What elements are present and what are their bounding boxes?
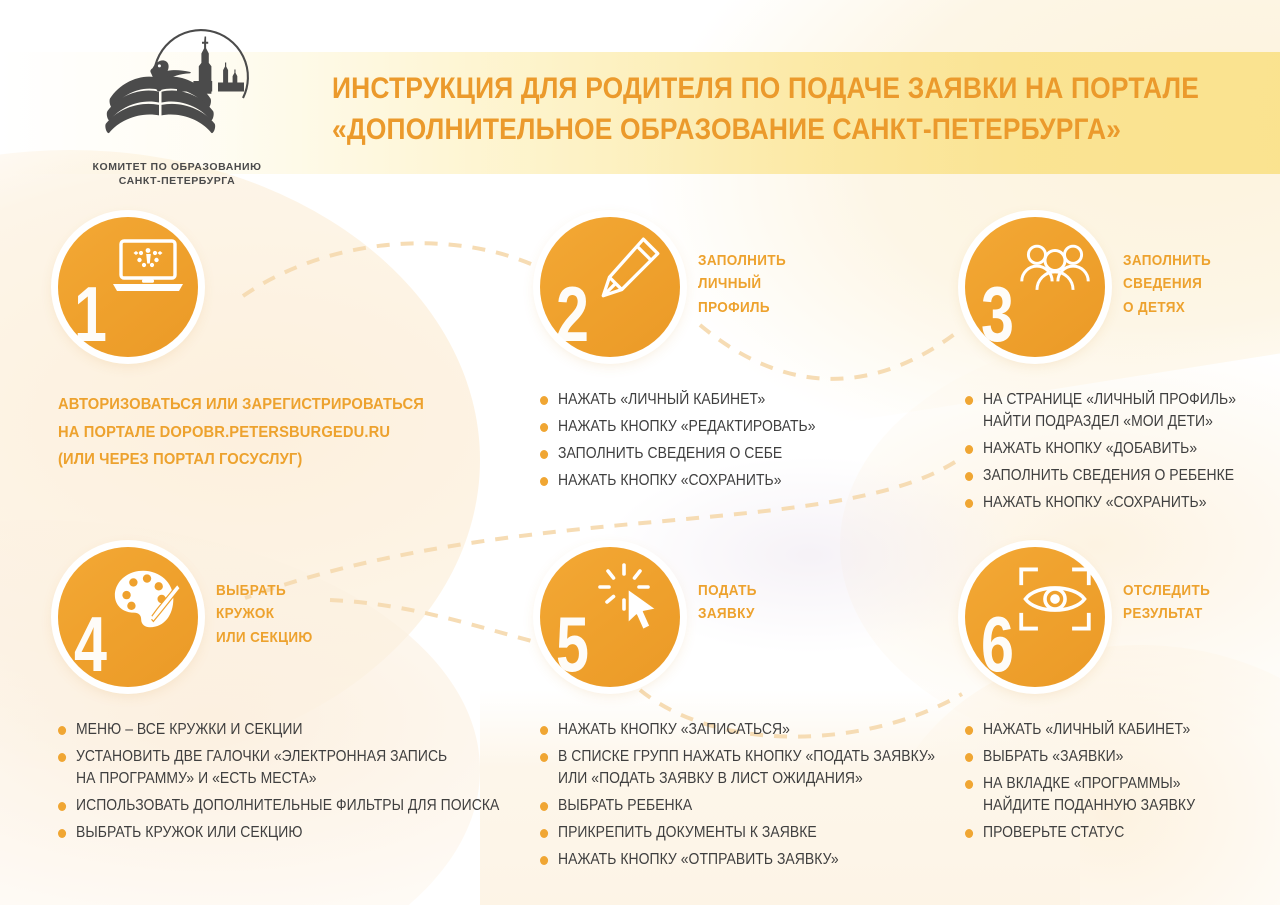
step-2-heading-line2: ЛИЧНЫЙ — [698, 272, 786, 295]
infographic-page: КОМИТЕТ ПО ОБРАЗОВАНИЮ САНКТ-ПЕТЕРБУРГА … — [0, 0, 1280, 905]
list-item: НА ВКЛАДКЕ «ПРОГРАММЫ» НАЙДИТЕ ПОДАННУЮ … — [965, 773, 1253, 817]
step-3: 3 — [965, 205, 1280, 519]
bullet-text-cont: НАЙТИ ПОДРАЗДЕЛ «МОИ ДЕТИ» — [983, 411, 1253, 433]
bullet-text: НАЖАТЬ КНОПКУ «РЕДАКТИРОВАТЬ» — [558, 418, 816, 435]
bullet-text: НАЖАТЬ КНОПКУ «СОХРАНИТЬ» — [558, 472, 782, 489]
step-5-number: 5 — [556, 605, 589, 683]
step-row-top: 1 — [0, 205, 1280, 535]
step-3-bullets: НА СТРАНИЦЕ «ЛИЧНЫЙ ПРОФИЛЬ» НАЙТИ ПОДРА… — [965, 389, 1280, 514]
list-item: МЕНЮ – ВСЕ КРУЖКИ И СЕКЦИИ — [58, 719, 445, 741]
step-2-bullets: НАЖАТЬ «ЛИЧНЫЙ КАБИНЕТ» НАЖАТЬ КНОПКУ «Р… — [540, 389, 960, 492]
bullet-text: ЗАПОЛНИТЬ СВЕДЕНИЯ О РЕБЕНКЕ — [983, 467, 1234, 484]
bullet-text: НАЖАТЬ КНОПКУ «ЗАПИСАТЬСЯ» — [558, 721, 790, 738]
steps-container: 1 — [0, 205, 1280, 865]
step-6-heading-line2: РЕЗУЛЬТАТ — [1123, 602, 1210, 625]
bullet-text: НА ВКЛАДКЕ «ПРОГРАММЫ» — [983, 775, 1181, 792]
step-3-heading-line1: ЗАПОЛНИТЬ — [1123, 249, 1211, 272]
list-item: НАЖАТЬ КНОПКУ «ДОБАВИТЬ» — [965, 438, 1253, 460]
bullet-text: НАЖАТЬ «ЛИЧНЫЙ КАБИНЕТ» — [983, 721, 1190, 738]
list-item: ВЫБРАТЬ «ЗАЯВКИ» — [965, 746, 1253, 768]
step-5: 5 — [540, 535, 960, 876]
step-1-lead: АВТОРИЗОВАТЬСЯ ИЛИ ЗАРЕГИСТРИРОВАТЬСЯ НА… — [58, 391, 454, 474]
list-item: НАЖАТЬ «ЛИЧНЫЙ КАБИНЕТ» — [965, 719, 1253, 741]
list-item: ВЫБРАТЬ КРУЖОК ИЛИ СЕКЦИЮ — [58, 822, 445, 844]
list-item: ПРОВЕРЬТЕ СТАТУС — [965, 822, 1253, 844]
step-3-heading-line3: О ДЕТЯХ — [1123, 296, 1211, 319]
list-item: НАЖАТЬ КНОПКУ «ОТПРАВИТЬ ЗАЯВКУ» — [540, 849, 918, 871]
bullet-text: МЕНЮ – ВСЕ КРУЖКИ И СЕКЦИИ — [76, 721, 303, 738]
step-4-bullets: МЕНЮ – ВСЕ КРУЖКИ И СЕКЦИИ УСТАНОВИТЬ ДВ… — [58, 719, 488, 844]
list-item: НАЖАТЬ КНОПКУ «СОХРАНИТЬ» — [965, 492, 1253, 514]
bullet-text: ВЫБРАТЬ РЕБЕНКА — [558, 797, 692, 814]
click-cursor-icon — [592, 563, 668, 635]
logo-caption-line2: САНКТ-ПЕТЕРБУРГА — [119, 175, 236, 187]
step-row-bottom: 4 — [0, 535, 1280, 865]
bullet-text: УСТАНОВИТЬ ДВЕ ГАЛОЧКИ «ЭЛЕКТРОННАЯ ЗАПИ… — [76, 748, 447, 765]
page-title: ИНСТРУКЦИЯ ДЛЯ РОДИТЕЛЯ ПО ПОДАЧЕ ЗАЯВКИ… — [332, 68, 1106, 151]
bullet-text: НА СТРАНИЦЕ «ЛИЧНЫЙ ПРОФИЛЬ» — [983, 391, 1236, 408]
step-6-bullets: НАЖАТЬ «ЛИЧНЫЙ КАБИНЕТ» ВЫБРАТЬ «ЗАЯВКИ»… — [965, 719, 1280, 844]
step-4-heading-line1: ВЫБРАТЬ — [216, 579, 313, 602]
step-1-head: 1 — [58, 205, 488, 365]
bullet-text: ВЫБРАТЬ «ЗАЯВКИ» — [983, 748, 1123, 765]
pencil-icon — [592, 233, 668, 305]
list-item: УСТАНОВИТЬ ДВЕ ГАЛОЧКИ «ЭЛЕКТРОННАЯ ЗАПИ… — [58, 746, 445, 790]
list-item: НА СТРАНИЦЕ «ЛИЧНЫЙ ПРОФИЛЬ» НАЙТИ ПОДРА… — [965, 389, 1253, 433]
list-item: НАЖАТЬ КНОПКУ «РЕДАКТИРОВАТЬ» — [540, 416, 918, 438]
bullet-text-cont: НАЙДИТЕ ПОДАННУЮ ЗАЯВКУ — [983, 795, 1253, 817]
list-item: В СПИСКЕ ГРУПП НАЖАТЬ КНОПКУ «ПОДАТЬ ЗАЯ… — [540, 746, 918, 790]
step-5-heading: ПОДАТЬ ЗАЯВКУ — [698, 579, 757, 626]
step-1-lead-line1: АВТОРИЗОВАТЬСЯ ИЛИ ЗАРЕГИСТРИРОВАТЬСЯ — [58, 391, 454, 419]
bullet-text: НАЖАТЬ КНОПКУ «СОХРАНИТЬ» — [983, 494, 1207, 511]
step-4: 4 — [58, 535, 488, 849]
list-item: ПРИКРЕПИТЬ ДОКУМЕНТЫ К ЗАЯВКЕ — [540, 822, 918, 844]
palette-brush-icon — [110, 563, 186, 635]
bullet-text: ВЫБРАТЬ КРУЖОК ИЛИ СЕКЦИЮ — [76, 824, 303, 841]
bullet-text: ИСПОЛЬЗОВАТЬ ДОПОЛНИТЕЛЬНЫЕ ФИЛЬТРЫ ДЛЯ … — [76, 797, 499, 814]
bullet-text: НАЖАТЬ КНОПКУ «ОТПРАВИТЬ ЗАЯВКУ» — [558, 851, 839, 868]
bullet-text: ПРОВЕРЬТЕ СТАТУС — [983, 824, 1124, 841]
step-1-lead-line3: (ИЛИ ЧЕРЕЗ ПОРТАЛ ГОСУСЛУГ) — [58, 446, 454, 474]
laptop-icon — [110, 233, 186, 305]
step-4-heading: ВЫБРАТЬ КРУЖОК ИЛИ СЕКЦИЮ — [216, 579, 313, 649]
page-title-line2: «ДОПОЛНИТЕЛЬНОЕ ОБРАЗОВАНИЕ САНКТ-ПЕТЕРБ… — [332, 109, 1106, 150]
page-title-line1: ИНСТРУКЦИЯ ДЛЯ РОДИТЕЛЯ ПО ПОДАЧЕ ЗАЯВКИ… — [332, 68, 1106, 109]
step-6: 6 — [965, 535, 1280, 849]
step-3-heading-line2: СВЕДЕНИЯ — [1123, 272, 1211, 295]
step-5-circle: 5 — [540, 547, 680, 687]
step-4-heading-line3: ИЛИ СЕКЦИЮ — [216, 626, 313, 649]
step-6-heading-line1: ОТСЛЕДИТЬ — [1123, 579, 1210, 602]
step-4-circle: 4 — [58, 547, 198, 687]
step-1-lead-line2: НА ПОРТАЛЕ DOPOBR.PETERSBURGEDU.RU — [58, 419, 454, 447]
bullet-text: В СПИСКЕ ГРУПП НАЖАТЬ КНОПКУ «ПОДАТЬ ЗАЯ… — [558, 748, 935, 765]
step-4-head: 4 — [58, 535, 488, 695]
list-item: ВЫБРАТЬ РЕБЕНКА — [540, 795, 918, 817]
eye-tracking-icon — [1017, 563, 1093, 635]
step-1-number: 1 — [74, 275, 107, 353]
step-4-heading-line2: КРУЖОК — [216, 602, 313, 625]
list-item: ЗАПОЛНИТЬ СВЕДЕНИЯ О СЕБЕ — [540, 443, 918, 465]
step-3-heading: ЗАПОЛНИТЬ СВЕДЕНИЯ О ДЕТЯХ — [1123, 249, 1211, 319]
step-4-number: 4 — [74, 605, 107, 683]
step-3-circle: 3 — [965, 217, 1105, 357]
bullet-text: ЗАПОЛНИТЬ СВЕДЕНИЯ О СЕБЕ — [558, 445, 782, 462]
step-5-head: 5 — [540, 535, 960, 695]
list-item: НАЖАТЬ КНОПКУ «СОХРАНИТЬ» — [540, 470, 918, 492]
step-5-bullets: НАЖАТЬ КНОПКУ «ЗАПИСАТЬСЯ» В СПИСКЕ ГРУП… — [540, 719, 960, 871]
step-5-heading-line1: ПОДАТЬ — [698, 579, 757, 602]
list-item: ИСПОЛЬЗОВАТЬ ДОПОЛНИТЕЛЬНЫЕ ФИЛЬТРЫ ДЛЯ … — [58, 795, 445, 817]
logo-caption-line1: КОМИТЕТ ПО ОБРАЗОВАНИЮ — [93, 161, 262, 173]
logo-caption: КОМИТЕТ ПО ОБРАЗОВАНИЮ САНКТ-ПЕТЕРБУРГА — [52, 160, 302, 188]
step-1: 1 — [58, 205, 488, 474]
spb-education-committee-emblem-icon — [52, 22, 302, 155]
step-2: 2 — [540, 205, 960, 497]
list-item: НАЖАТЬ «ЛИЧНЫЙ КАБИНЕТ» — [540, 389, 918, 411]
list-item: ЗАПОЛНИТЬ СВЕДЕНИЯ О РЕБЕНКЕ — [965, 465, 1253, 487]
people-group-icon — [1017, 233, 1093, 305]
step-3-number: 3 — [981, 275, 1014, 353]
step-3-head: 3 — [965, 205, 1280, 365]
step-6-number: 6 — [981, 605, 1014, 683]
step-2-circle: 2 — [540, 217, 680, 357]
step-2-number: 2 — [556, 275, 589, 353]
step-6-heading: ОТСЛЕДИТЬ РЕЗУЛЬТАТ — [1123, 579, 1210, 626]
step-6-circle: 6 — [965, 547, 1105, 687]
step-2-heading-line3: ПРОФИЛЬ — [698, 296, 786, 319]
step-2-heading: ЗАПОЛНИТЬ ЛИЧНЫЙ ПРОФИЛЬ — [698, 249, 786, 319]
bullet-text-cont: НА ПРОГРАММУ» И «ЕСТЬ МЕСТА» — [76, 768, 445, 790]
bullet-text: ПРИКРЕПИТЬ ДОКУМЕНТЫ К ЗАЯВКЕ — [558, 824, 817, 841]
bullet-text-cont: ИЛИ «ПОДАТЬ ЗАЯВКУ В ЛИСТ ОЖИДАНИЯ» — [558, 768, 918, 790]
step-2-head: 2 — [540, 205, 960, 365]
bullet-text: НАЖАТЬ «ЛИЧНЫЙ КАБИНЕТ» — [558, 391, 765, 408]
step-5-heading-line2: ЗАЯВКУ — [698, 602, 757, 625]
committee-logo: КОМИТЕТ ПО ОБРАЗОВАНИЮ САНКТ-ПЕТЕРБУРГА — [52, 22, 302, 188]
list-item: НАЖАТЬ КНОПКУ «ЗАПИСАТЬСЯ» — [540, 719, 918, 741]
step-1-circle: 1 — [58, 217, 198, 357]
step-2-heading-line1: ЗАПОЛНИТЬ — [698, 249, 786, 272]
step-6-head: 6 — [965, 535, 1280, 695]
bullet-text: НАЖАТЬ КНОПКУ «ДОБАВИТЬ» — [983, 440, 1197, 457]
